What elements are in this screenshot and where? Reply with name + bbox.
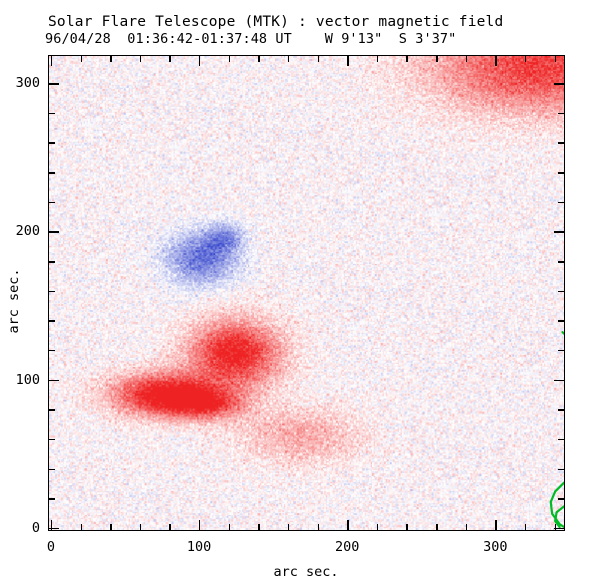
contour-right-edge-dot <box>563 332 564 333</box>
tick-y-left-180 <box>48 261 55 262</box>
x-tick-label-200: 200 <box>335 539 359 555</box>
tick-y-left-100 <box>48 380 59 381</box>
tick-y-left-60 <box>48 439 55 440</box>
tick-x-top-260 <box>436 55 437 62</box>
tick-x-bottom-40 <box>110 524 111 531</box>
tick-y-left-300 <box>48 83 59 84</box>
tick-y-left-260 <box>48 142 55 143</box>
plot-frame <box>48 55 565 531</box>
tick-x-bottom-280 <box>466 524 467 531</box>
tick-x-top-280 <box>466 55 467 62</box>
tick-x-top-100 <box>199 55 200 66</box>
tick-x-top-140 <box>258 55 259 62</box>
tick-y-right-140 <box>558 320 565 321</box>
y-tick-label-0: 0 <box>0 520 40 536</box>
tick-x-top-240 <box>406 55 407 62</box>
tick-x-top-60 <box>140 55 141 62</box>
tick-y-right-260 <box>558 142 565 143</box>
tick-x-bottom-60 <box>140 524 141 531</box>
x-tick-label-100: 100 <box>187 539 211 555</box>
tick-x-top-0 <box>51 55 52 66</box>
tick-y-right-0 <box>554 528 565 529</box>
tick-y-left-120 <box>48 350 55 351</box>
tick-y-right-300 <box>554 83 565 84</box>
tick-x-top-300 <box>495 55 496 66</box>
figure-title-block: Solar Flare Telescope (MTK) : vector mag… <box>48 14 588 47</box>
tick-y-right-180 <box>558 261 565 262</box>
x-axis-title: arc sec. <box>0 564 612 580</box>
figure-title: Solar Flare Telescope (MTK) : vector mag… <box>48 14 588 31</box>
tick-y-right-20 <box>558 498 565 499</box>
tick-y-right-240 <box>558 172 565 173</box>
tick-y-right-160 <box>558 291 565 292</box>
x-tick-label-300: 300 <box>483 539 507 555</box>
tick-x-bottom-160 <box>288 524 289 531</box>
tick-y-left-140 <box>48 320 55 321</box>
tick-x-top-180 <box>318 55 319 62</box>
tick-y-right-200 <box>554 231 565 232</box>
magnetogram-figure: Solar Flare Telescope (MTK) : vector mag… <box>0 0 612 585</box>
tick-x-top-20 <box>81 55 82 62</box>
tick-x-bottom-240 <box>406 524 407 531</box>
tick-x-bottom-120 <box>229 524 230 531</box>
tick-x-top-40 <box>110 55 111 62</box>
tick-y-left-0 <box>48 528 59 529</box>
tick-x-top-320 <box>525 55 526 62</box>
tick-y-right-60 <box>558 439 565 440</box>
tick-y-left-200 <box>48 231 59 232</box>
tick-x-top-160 <box>288 55 289 62</box>
tick-x-bottom-20 <box>81 524 82 531</box>
tick-y-left-240 <box>48 172 55 173</box>
tick-y-right-220 <box>558 202 565 203</box>
tick-y-right-40 <box>558 469 565 470</box>
tick-x-bottom-200 <box>347 520 348 531</box>
tick-y-left-80 <box>48 409 55 410</box>
contour-overlay <box>49 56 564 530</box>
tick-x-top-340 <box>555 55 556 62</box>
tick-x-bottom-300 <box>495 520 496 531</box>
tick-y-left-280 <box>48 113 55 114</box>
tick-y-left-160 <box>48 291 55 292</box>
tick-x-bottom-140 <box>258 524 259 531</box>
tick-x-top-220 <box>377 55 378 62</box>
tick-x-bottom-100 <box>199 520 200 531</box>
y-axis-title: arc sec. <box>6 261 22 341</box>
y-tick-label-200: 200 <box>0 223 40 239</box>
tick-y-right-80 <box>558 409 565 410</box>
tick-x-bottom-180 <box>318 524 319 531</box>
figure-subtitle: 96/04/28 01:36:42-01:37:48 UT W 9'13" S … <box>45 31 588 47</box>
tick-y-left-40 <box>48 469 55 470</box>
tick-x-bottom-260 <box>436 524 437 531</box>
y-tick-label-300: 300 <box>0 75 40 91</box>
x-tick-label-0: 0 <box>47 539 55 555</box>
tick-y-right-280 <box>558 113 565 114</box>
tick-x-bottom-220 <box>377 524 378 531</box>
y-tick-label-100: 100 <box>0 372 40 388</box>
tick-x-top-80 <box>169 55 170 62</box>
tick-x-top-200 <box>347 55 348 66</box>
tick-x-bottom-80 <box>169 524 170 531</box>
tick-x-top-120 <box>229 55 230 62</box>
tick-y-left-220 <box>48 202 55 203</box>
contour-bottom-right-outer <box>551 483 564 527</box>
tick-y-right-100 <box>554 380 565 381</box>
tick-y-right-120 <box>558 350 565 351</box>
tick-x-bottom-320 <box>525 524 526 531</box>
tick-y-left-20 <box>48 498 55 499</box>
